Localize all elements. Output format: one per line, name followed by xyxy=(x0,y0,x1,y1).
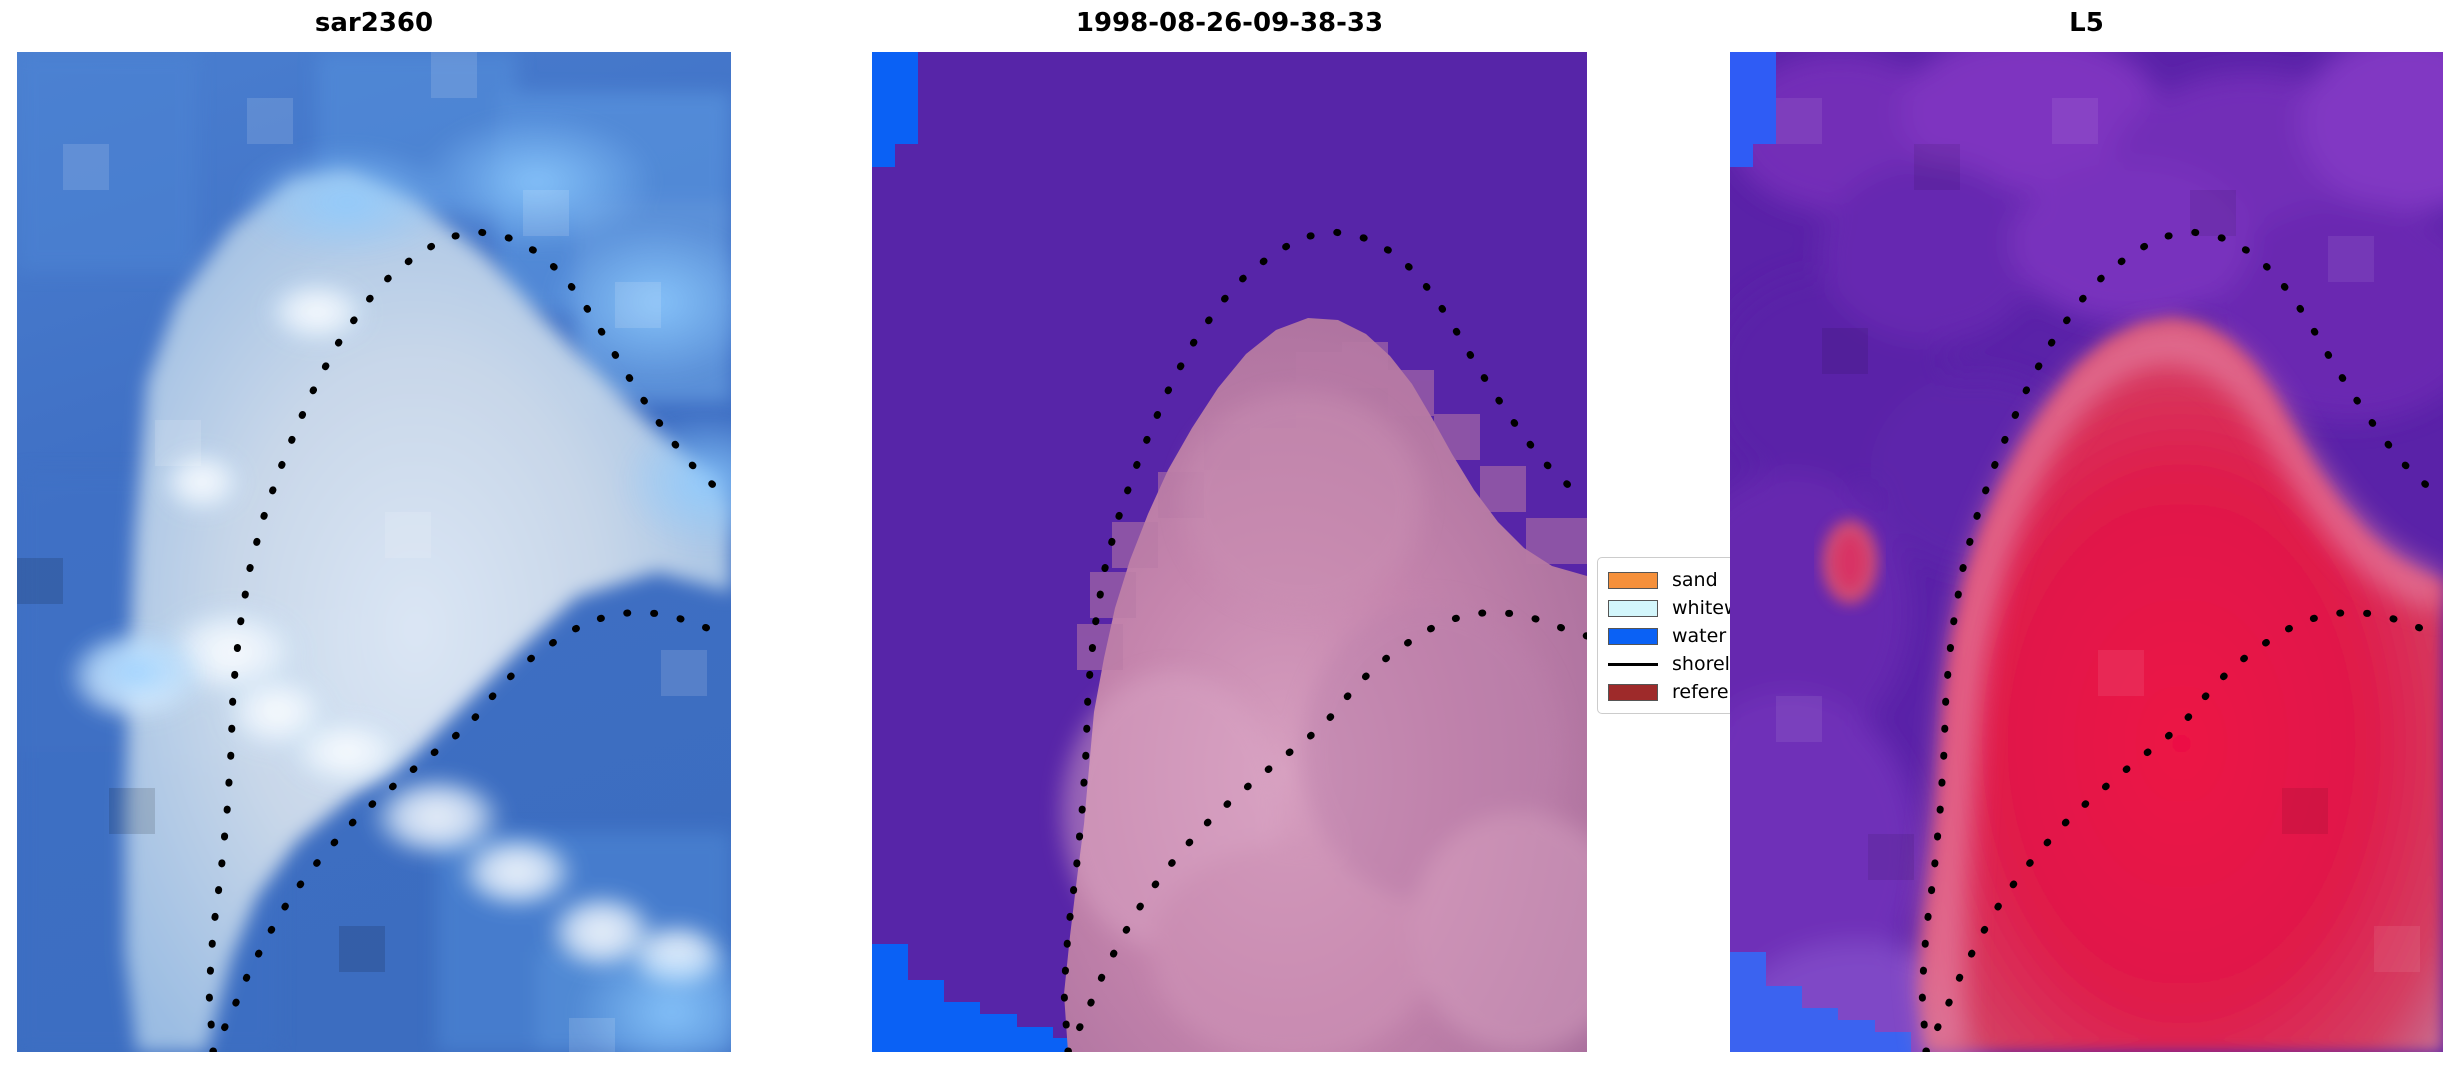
sar-panel[interactable] xyxy=(17,52,731,1052)
classified-image xyxy=(872,52,1587,1052)
shoreline-swatch xyxy=(1608,663,1658,666)
legend-label-sand: sand xyxy=(1672,570,1718,590)
panel-title-3: L5 xyxy=(1730,8,2443,38)
l5-panel[interactable] xyxy=(1730,52,2443,1052)
figure-canvas: sar2360 xyxy=(0,0,2460,1069)
water-swatch xyxy=(1608,628,1658,645)
sand-swatch xyxy=(1608,572,1658,589)
legend-label-water: water xyxy=(1672,626,1726,646)
classification-panel[interactable] xyxy=(872,52,1587,1052)
reference-shoreline-swatch xyxy=(1608,684,1658,701)
whitewater-swatch xyxy=(1608,600,1658,617)
panel-title-2: 1998-08-26-09-38-33 xyxy=(872,8,1587,38)
l5-index-image xyxy=(1730,52,2443,1052)
isolated-red-blob xyxy=(1822,520,1878,604)
sar-image xyxy=(17,52,731,1052)
panel-title-1: sar2360 xyxy=(17,8,731,38)
